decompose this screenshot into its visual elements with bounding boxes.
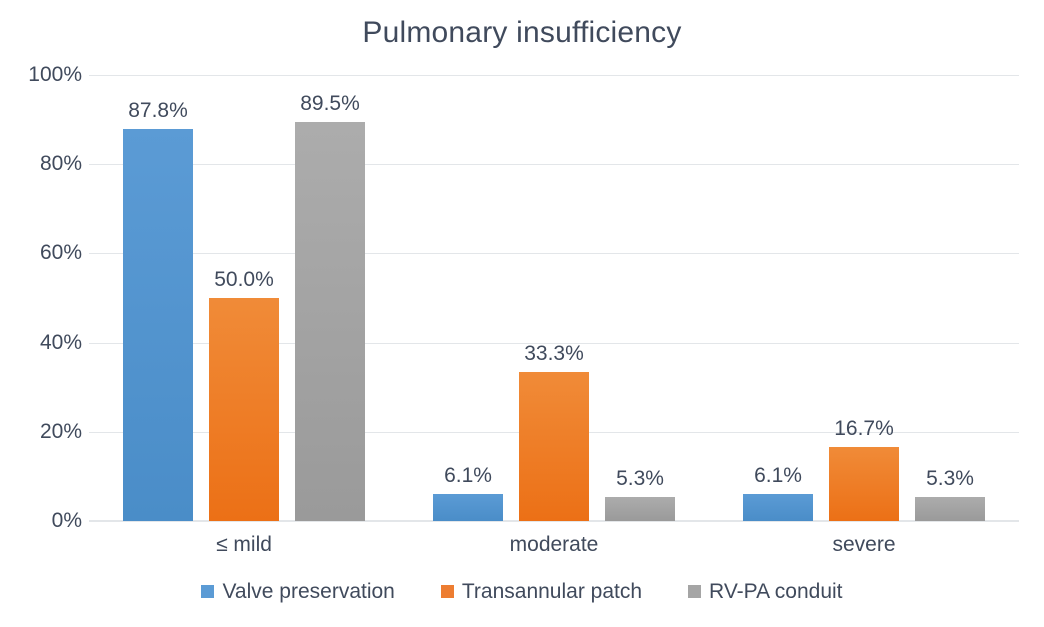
bar-slot: 89.5% (295, 75, 365, 521)
legend-item[interactable]: Valve preservation (201, 581, 394, 602)
legend-swatch-icon (688, 585, 701, 598)
legend-label: RV-PA conduit (709, 581, 842, 602)
bar[interactable] (123, 129, 193, 521)
bar-slot: 50.0% (209, 75, 279, 521)
bar-slot: 87.8% (123, 75, 193, 521)
bar[interactable] (743, 494, 813, 521)
plot-area: 87.8%50.0%89.5%6.1%33.3%5.3%6.1%16.7%5.3… (89, 75, 1019, 521)
bar-value-label: 89.5% (280, 92, 380, 116)
bar-slot: 6.1% (743, 75, 813, 521)
y-axis: 100%80%60%40%20%0% (0, 75, 82, 521)
y-axis-tick-label: 20% (6, 420, 82, 444)
chart-legend: Valve preservationTransannular patchRV-P… (0, 581, 1044, 602)
bar-slot: 6.1% (433, 75, 503, 521)
legend-item[interactable]: Transannular patch (441, 581, 642, 602)
legend-label: Valve preservation (222, 581, 394, 602)
x-axis-category-label: ≤ mild (89, 533, 399, 557)
bar-value-label: 5.3% (590, 467, 690, 491)
bar-slot: 33.3% (519, 75, 589, 521)
bar[interactable] (295, 122, 365, 521)
bar-value-label: 5.3% (900, 467, 1000, 491)
bar[interactable] (519, 372, 589, 521)
bar-group: 6.1%33.3%5.3% (433, 75, 675, 521)
y-axis-tick-label: 80% (6, 152, 82, 176)
x-axis-category-label: moderate (399, 533, 709, 557)
bar-slot: 16.7% (829, 75, 899, 521)
bar-value-label: 87.8% (108, 99, 208, 123)
bar-value-label: 16.7% (814, 417, 914, 441)
x-axis-category-label: severe (709, 533, 1019, 557)
legend-label: Transannular patch (462, 581, 642, 602)
bar-value-label: 6.1% (418, 464, 518, 488)
bar-group: 6.1%16.7%5.3% (743, 75, 985, 521)
bar[interactable] (433, 494, 503, 521)
bar-value-label: 33.3% (504, 342, 604, 366)
bar-chart: Pulmonary insufficiency 100%80%60%40%20%… (0, 0, 1044, 627)
bar[interactable] (605, 497, 675, 521)
legend-item[interactable]: RV-PA conduit (688, 581, 842, 602)
bar[interactable] (915, 497, 985, 521)
chart-title: Pulmonary insufficiency (0, 16, 1044, 50)
bar-group: 87.8%50.0%89.5% (123, 75, 365, 521)
y-axis-tick-label: 40% (6, 331, 82, 355)
gridline (89, 521, 1019, 522)
legend-swatch-icon (201, 585, 214, 598)
y-axis-tick-label: 0% (6, 509, 82, 533)
bar-slot: 5.3% (605, 75, 675, 521)
bar-slot: 5.3% (915, 75, 985, 521)
y-axis-tick-label: 100% (6, 63, 82, 87)
bar-value-label: 6.1% (728, 464, 828, 488)
bar[interactable] (209, 298, 279, 521)
y-axis-tick-label: 60% (6, 241, 82, 265)
bar[interactable] (829, 447, 899, 521)
legend-swatch-icon (441, 585, 454, 598)
bar-value-label: 50.0% (194, 268, 294, 292)
